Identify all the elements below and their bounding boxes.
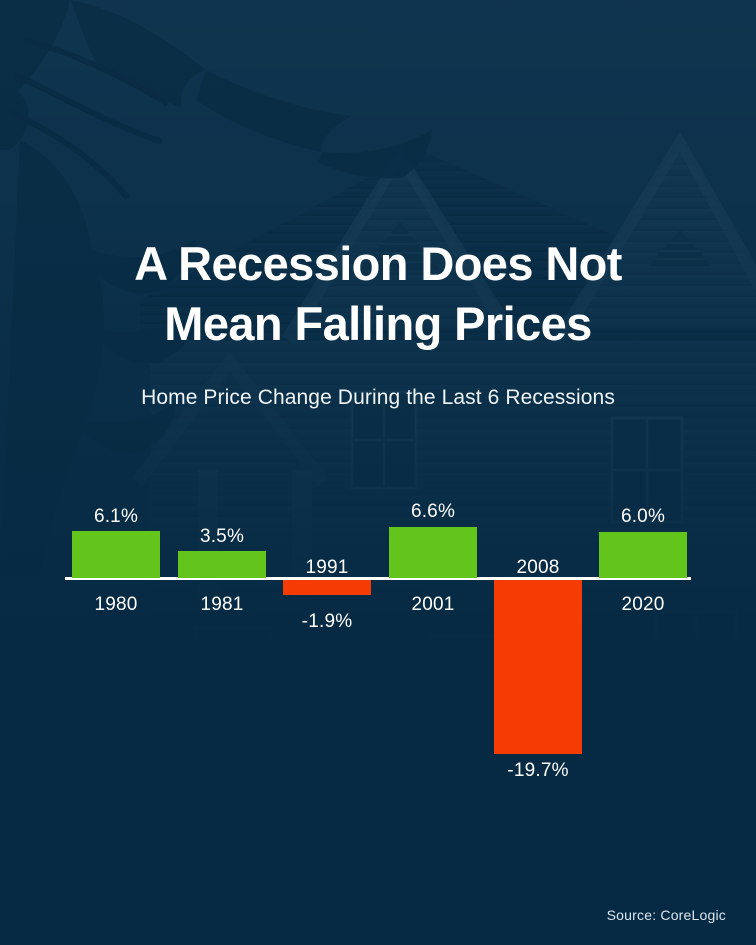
bar-value-1981: 3.5% xyxy=(152,525,292,549)
infographic-poster: A Recession Does Not Mean Falling Prices… xyxy=(0,0,756,945)
bar-value-2020: 6.0% xyxy=(573,505,713,529)
bar-2001 xyxy=(389,527,477,578)
bar-year-2020: 2020 xyxy=(573,593,713,617)
bar-chart: 6.1% 1980 3.5% 1981 1991 -1.9% 6.6% 2001… xyxy=(0,0,756,945)
bar-value-2008: -19.7% xyxy=(468,759,608,783)
source-attribution: Source: CoreLogic xyxy=(607,907,726,923)
bar-year-1991: 1991 xyxy=(257,556,397,580)
bar-2008 xyxy=(494,580,582,754)
bar-1980 xyxy=(72,531,160,578)
bar-value-2001: 6.6% xyxy=(363,500,503,524)
bar-1981 xyxy=(178,551,266,578)
bar-1991 xyxy=(283,580,371,595)
bar-year-2001: 2001 xyxy=(363,593,503,617)
bar-year-2008: 2008 xyxy=(468,556,608,580)
bar-2020 xyxy=(599,532,687,578)
